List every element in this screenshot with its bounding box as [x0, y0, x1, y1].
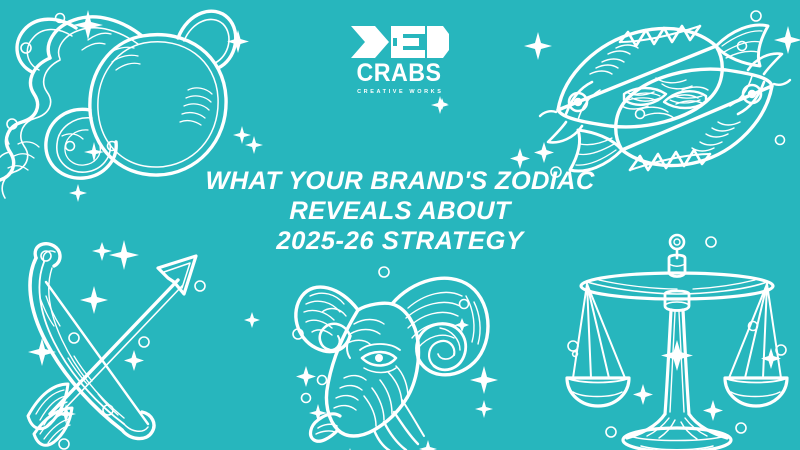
headline-line-1: WHAT YOUR BRAND'S ZODIAC: [0, 168, 800, 194]
headline-line-2: REVEALS ABOUT: [0, 198, 800, 224]
illustration-libra: [565, 228, 790, 450]
headline-line-3: 2025-26 STRATEGY: [0, 228, 800, 254]
illustration-sagittarius: [10, 238, 235, 450]
logo-crabs-wordmark: CRABS: [347, 61, 451, 86]
zodiac-social-banner: CRABS CREATIVE WORKS WHAT YOUR BRAND'S Z…: [0, 0, 800, 450]
headline: WHAT YOUR BRAND'S ZODIAC REVEALS ABOUT 2…: [0, 168, 800, 254]
red-crabs-logo: CRABS CREATIVE WORKS: [343, 24, 455, 96]
illustration-pisces: [520, 2, 800, 187]
logo-tagline: CREATIVE WORKS: [343, 88, 455, 96]
logo-red-wordmark: [349, 24, 449, 60]
illustration-aries: [288, 262, 503, 450]
